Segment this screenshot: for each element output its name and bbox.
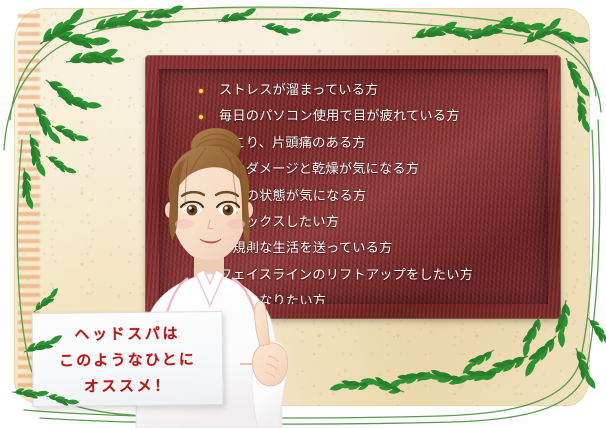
bullet-dot-icon: [199, 115, 203, 119]
sign-line-1: ヘッドスパは: [74, 322, 180, 344]
list-item: 毎日のパソコン使用で目が疲れている方: [175, 103, 540, 129]
list-item-label: ストレスが溜まっている方: [219, 82, 378, 97]
list-item-label: 毎日のパソコン使用で目が疲れている方: [219, 108, 460, 123]
handheld-sign: ヘッドスパは このようなひとに オススメ！: [32, 311, 224, 407]
list-item: ストレスが溜まっている方: [175, 77, 540, 103]
sign-line-3: オススメ！: [84, 374, 172, 396]
character-blush-right: [227, 219, 245, 229]
sign-line-2: このようなひとに: [59, 348, 196, 370]
bullet-dot-icon: [199, 89, 203, 93]
character-blush-left: [175, 219, 193, 229]
promo-banner: ストレスが溜まっている方 毎日のパソコン使用で目が疲れている方 肩こり、片頭痛の…: [0, 0, 606, 428]
sign-text: ヘッドスパは このようなひとに オススメ！: [33, 312, 223, 406]
